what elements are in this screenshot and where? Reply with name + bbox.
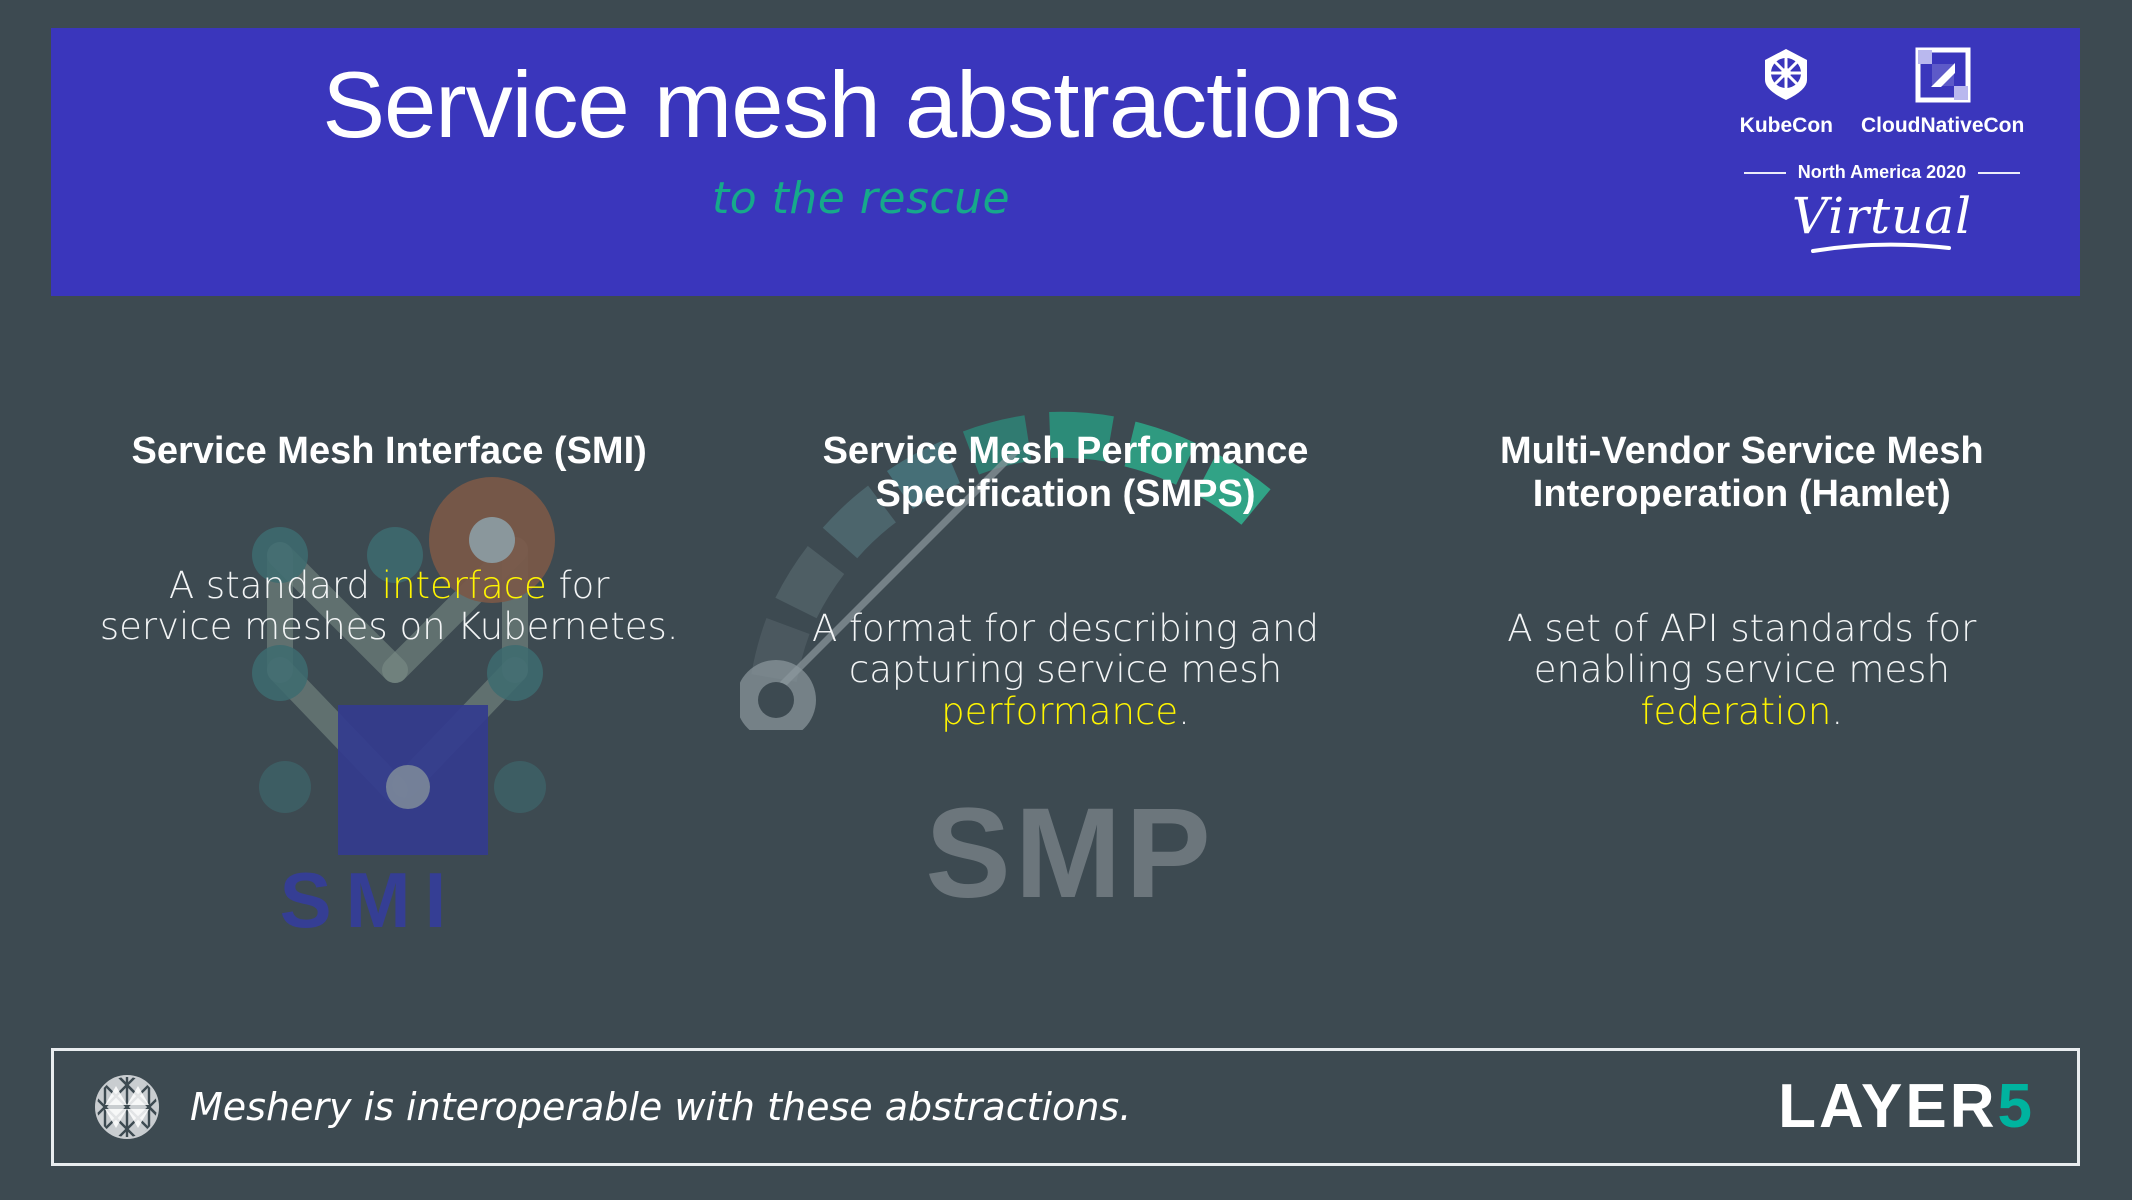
meshery-lattice-circle-icon xyxy=(94,1074,160,1140)
kubecon-virtual-label: Virtual xyxy=(1732,187,2032,245)
column-hamlet: Multi-Vendor Service Mesh Interoperation… xyxy=(1404,430,2080,990)
page-subtitle: to the rescue xyxy=(712,173,1010,224)
rule-left xyxy=(1744,172,1786,174)
column-heading: Multi-Vendor Service Mesh Interoperation… xyxy=(1450,430,2034,516)
column-heading: Service Mesh Performance Specification (… xyxy=(773,430,1357,516)
kubernetes-helm-icon xyxy=(1757,44,1815,106)
rule-right xyxy=(1978,172,2020,174)
body-text-plain: . xyxy=(1178,690,1190,733)
title-block: Service mesh abstractions to the rescue xyxy=(51,28,1671,296)
body-text-plain: A standard xyxy=(169,564,382,607)
cloud-native-computing-icon xyxy=(1915,44,1971,106)
kubecon-half: KubeCon xyxy=(1726,44,1847,156)
layer5-logo: LAYER5 xyxy=(1778,1076,2035,1138)
column-body: A set of API standards for enabling serv… xyxy=(1450,608,2034,732)
column-body: A standard interface for service meshes … xyxy=(97,565,681,648)
column-smi: Service Mesh Interface (SMI) A standard … xyxy=(51,430,727,990)
kubecon-region-label: North America 2020 xyxy=(1798,162,1966,183)
header-band: Service mesh abstractions to the rescue xyxy=(51,28,2080,296)
layer5-wordmark: LAYER xyxy=(1778,1076,1997,1138)
cloudnativecon-label: CloudNativeCon xyxy=(1861,114,2024,138)
body-text-plain: A format for describing and capturing se… xyxy=(812,607,1319,691)
slide-root: SMI SMP Serv xyxy=(0,0,2132,1200)
body-keyword: performance xyxy=(941,690,1178,733)
abstractions-columns: Service Mesh Interface (SMI) A standard … xyxy=(51,430,2080,990)
column-heading: Service Mesh Interface (SMI) xyxy=(132,430,647,473)
column-body: A format for describing and capturing se… xyxy=(773,608,1357,732)
layer5-five-glyph: 5 xyxy=(1998,1076,2035,1138)
body-text-plain: A set of API standards for enabling serv… xyxy=(1507,607,1976,691)
footer-message: Meshery is interoperable with these abst… xyxy=(190,1085,1778,1129)
body-keyword: interface xyxy=(382,564,547,607)
body-text-plain: . xyxy=(1831,690,1843,733)
kubecon-region-row: North America 2020 xyxy=(1732,162,2032,183)
kubecon-cloudnativecon-logo: KubeCon CloudNativeCon xyxy=(1732,40,2032,290)
body-keyword: federation xyxy=(1641,690,1832,733)
footer-banner: Meshery is interoperable with these abst… xyxy=(51,1048,2080,1166)
page-title: Service mesh abstractions xyxy=(322,56,1399,155)
kubecon-logo-row: KubeCon CloudNativeCon xyxy=(1732,40,2032,160)
column-smps: Service Mesh Performance Specification (… xyxy=(727,430,1403,990)
kubecon-label: KubeCon xyxy=(1740,114,1833,138)
cloudnativecon-half: CloudNativeCon xyxy=(1847,44,2038,156)
